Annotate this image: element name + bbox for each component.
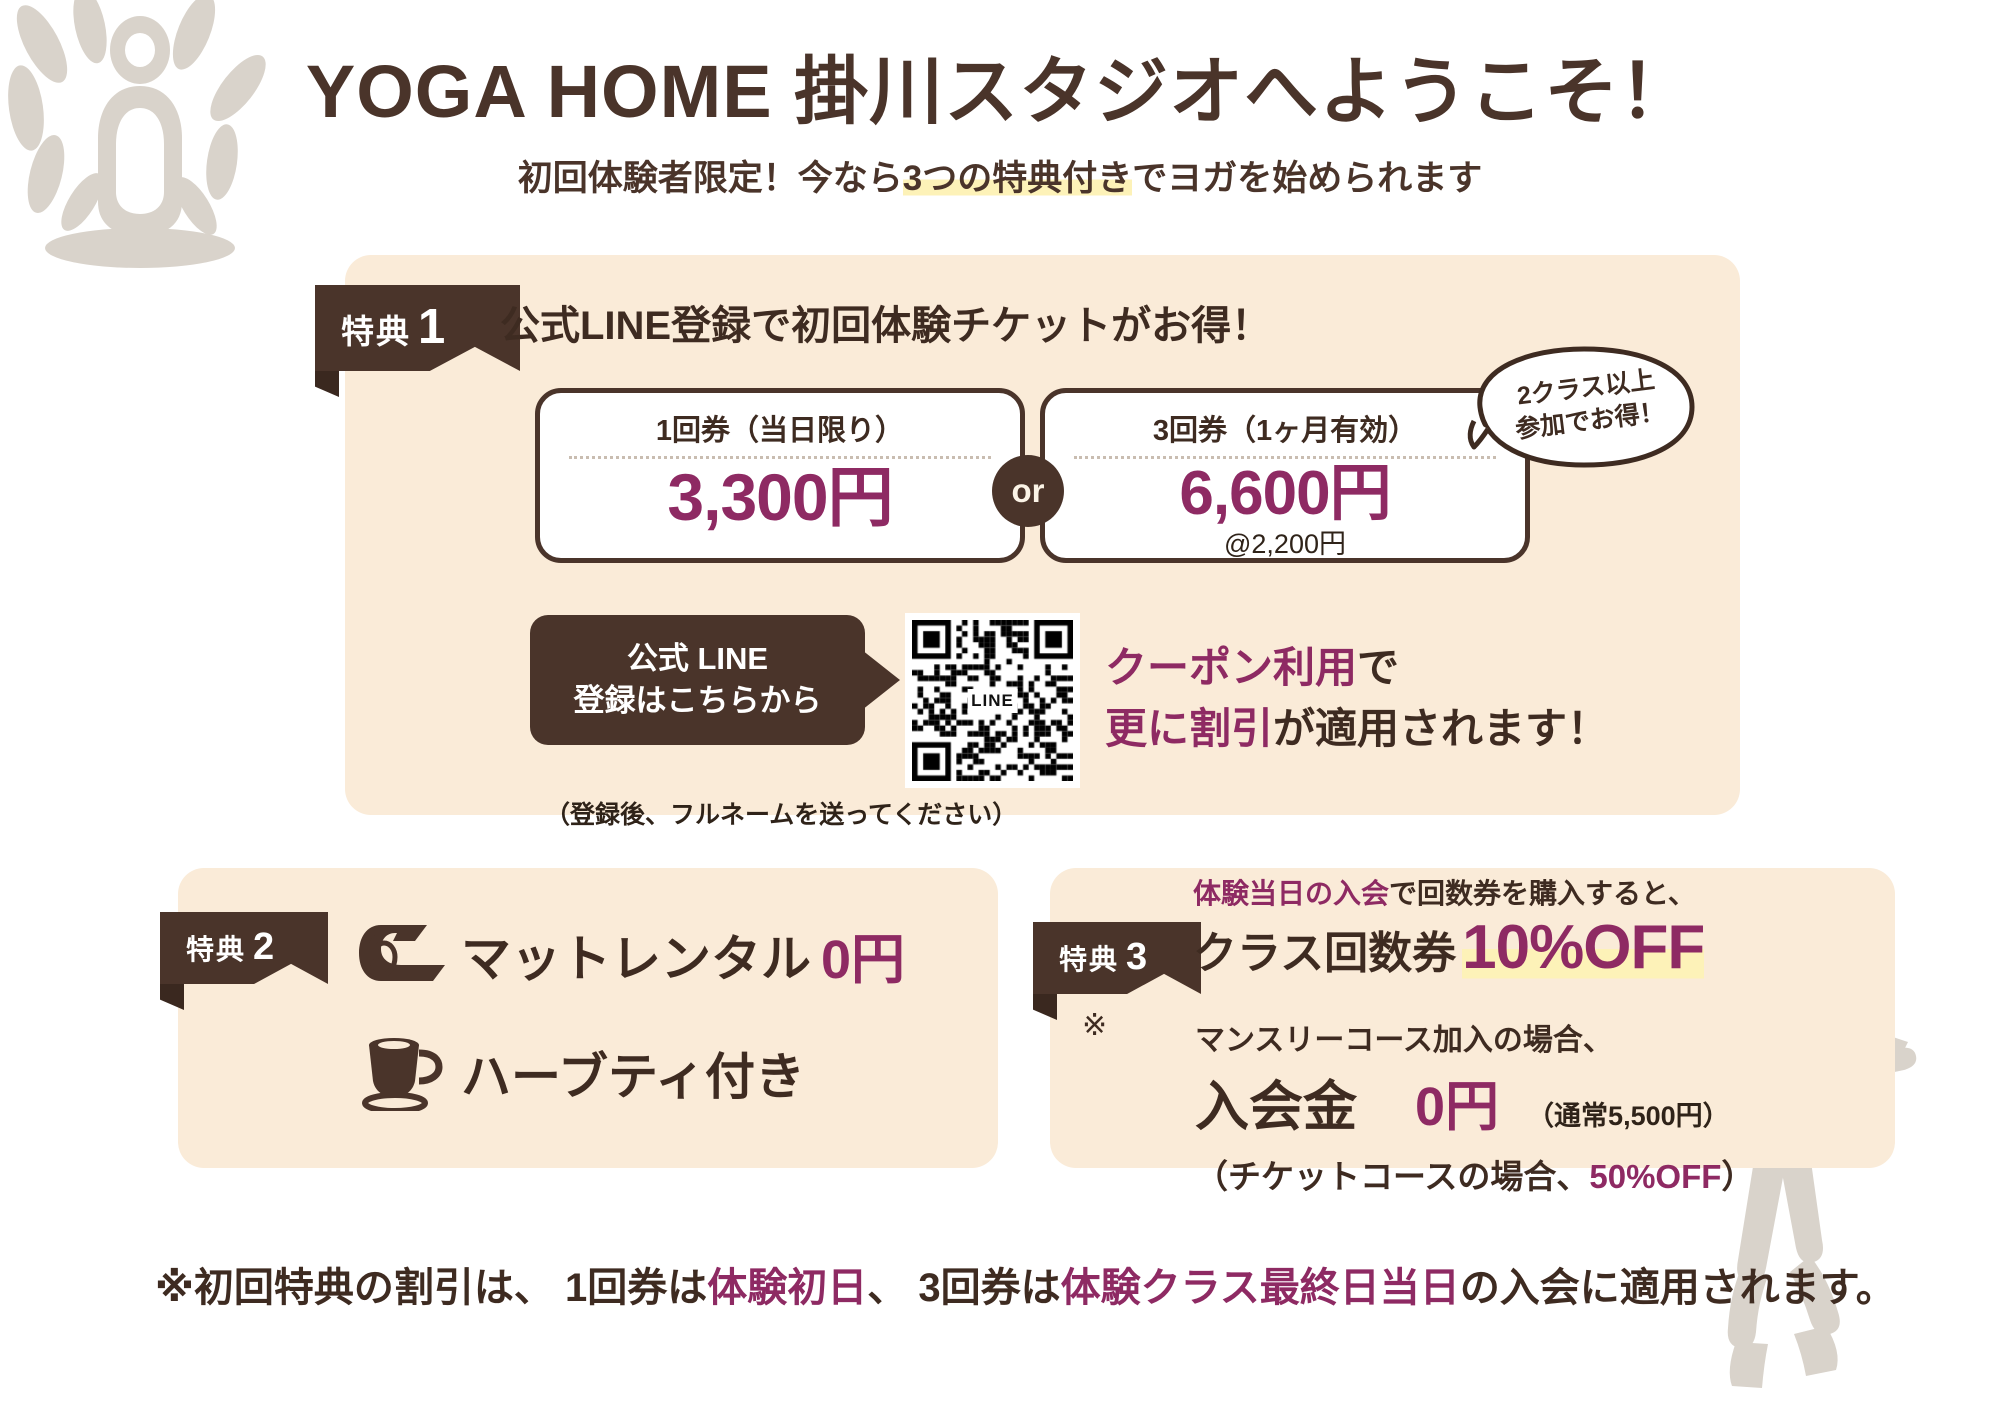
footnote-emph-2: 体験クラス最終日当日 bbox=[1061, 1266, 1460, 1310]
footnote-post: の入会に適用されます。 bbox=[1460, 1266, 1896, 1310]
benefit-3-asterisk: ※ bbox=[1082, 1008, 1107, 1043]
benefit-3-lead-emph: 体験当日の入会 bbox=[1193, 878, 1389, 909]
ribbon-number: 3 bbox=[1126, 938, 1147, 976]
benefit-3-offer-value: 10%OFF bbox=[1462, 912, 1704, 983]
line-registration-note: （登録後、フルネームを送ってください） bbox=[545, 795, 1017, 831]
header: YOGA HOME 掛川スタジオへようこそ！ 初回体験者限定！今なら3つの特典付… bbox=[0, 52, 2000, 201]
ribbon-word: 特典 bbox=[186, 928, 246, 968]
coupon-line-2-emph: 更に割引 bbox=[1105, 705, 1273, 752]
benefit-3-ticket-note-pre: （チケットコースの場合、 bbox=[1195, 1158, 1589, 1195]
benefit-3-monthly-note: マンスリーコース加入の場合、 bbox=[1195, 1015, 1613, 1059]
coupon-line-1-emph: クーポン利用 bbox=[1105, 644, 1357, 691]
benefit-3-offer-label: クラス回数券 bbox=[1193, 917, 1456, 981]
benefit-1-heading: 公式LINE登録で初回体験チケットがお得！ bbox=[500, 293, 1271, 351]
footnote: ※初回特典の割引は、 1回券は体験初日、 3回券は体験クラス最終日当日の入会に適… bbox=[155, 1255, 1896, 1313]
benefit-3-lead-rest: で回数券を購入すると、 bbox=[1389, 878, 1696, 909]
coupon-discount-text: クーポン利用で 更に割引が適用されます！ bbox=[1105, 638, 1609, 760]
benefit-3-ticket-note-post: ） bbox=[1721, 1158, 1754, 1195]
coupon-line-2-rest: が適用されます！ bbox=[1273, 705, 1609, 752]
footnote-pre: ※初回特典の割引は、 1回券は bbox=[155, 1266, 707, 1310]
arrow-right-icon bbox=[862, 650, 900, 710]
benefit-2-tea-label: ハーブティ付き bbox=[461, 1037, 805, 1109]
ribbon-2-tail bbox=[160, 984, 184, 1010]
ticket-card-triple: 3回券（1ヶ月有効） 6,600円 @2,200円 bbox=[1040, 388, 1530, 563]
ribbon-1-tail bbox=[315, 371, 339, 397]
ticket-card-single: 1回券（当日限り） 3,300円 bbox=[535, 388, 1025, 563]
ribbon-word: 特典 bbox=[341, 305, 411, 353]
benefit-3-lead-text: 体験当日の入会で回数券を購入すると、 bbox=[1193, 872, 1696, 912]
benefit-3-ticket-note: （チケットコースの場合、50%OFF） bbox=[1195, 1150, 1754, 1198]
benefit-3-fee-row: 入会金 0円 （通常5,500円） bbox=[1195, 1062, 1730, 1141]
benefit-2-mat-price: 0円 bbox=[821, 915, 905, 994]
benefit-3-fee-value: 0円 bbox=[1415, 1062, 1499, 1141]
coupon-line-2: 更に割引が適用されます！ bbox=[1105, 699, 1609, 760]
or-badge: or bbox=[992, 455, 1064, 527]
page-title: YOGA HOME 掛川スタジオへようこそ！ bbox=[0, 52, 2000, 132]
ticket-card-triple-unit-price: @2,200円 bbox=[1045, 522, 1525, 561]
ticket-card-single-price: 3,300円 bbox=[540, 461, 1020, 535]
coupon-line-1-rest: で bbox=[1357, 644, 1399, 691]
benefit-3-offer-row: クラス回数券 10%OFF bbox=[1193, 912, 1704, 983]
ribbon-number: 1 bbox=[418, 303, 445, 352]
ribbon-number: 2 bbox=[253, 928, 274, 966]
page-subtitle: 初回体験者限定！今なら3つの特典付きでヨガを始められます bbox=[0, 150, 2000, 201]
benefit-3-fee-note: （通常5,500円） bbox=[1527, 1094, 1730, 1133]
ribbon-word: 特典 bbox=[1059, 938, 1119, 978]
ribbon-3-tail bbox=[1033, 994, 1057, 1020]
line-qr-code[interactable]: LINE bbox=[905, 613, 1080, 788]
line-register-button[interactable]: 公式 LINE 登録はこちらから bbox=[530, 615, 865, 745]
subtitle-pre: 初回体験者限定！今なら bbox=[518, 159, 903, 198]
footnote-mid: 、 3回券は bbox=[867, 1266, 1060, 1310]
ticket-card-single-title: 1回券（当日限り） bbox=[540, 407, 1020, 449]
subtitle-post: でヨガを始められます bbox=[1132, 159, 1482, 198]
coupon-line-1: クーポン利用で bbox=[1105, 638, 1609, 699]
benefit-2-mat-row: マットレンタル 0円 bbox=[355, 915, 905, 994]
benefit-3-ticket-note-emph: 50%OFF bbox=[1589, 1158, 1721, 1195]
benefit-2-mat-label: マットレンタル bbox=[461, 919, 811, 991]
ticket-card-triple-title: 3回券（1ヶ月有効） bbox=[1045, 407, 1525, 449]
divider bbox=[569, 456, 991, 459]
subtitle-highlight: 3つの特典付き bbox=[903, 159, 1132, 198]
benefit-3-fee-label: 入会金 bbox=[1195, 1062, 1357, 1141]
line-cta-line-2: 登録はこちらから bbox=[574, 680, 822, 722]
qr-code-label: LINE bbox=[967, 689, 1018, 713]
benefit-2-tea-row: ハーブティ付き bbox=[355, 1035, 805, 1111]
ticket-card-triple-price: 6,600円 bbox=[1045, 461, 1525, 526]
footnote-emph-1: 体験初日 bbox=[707, 1266, 867, 1310]
yoga-mat-roll-icon bbox=[355, 917, 447, 993]
tea-cup-icon bbox=[355, 1035, 447, 1111]
line-cta-line-1: 公式 LINE bbox=[627, 638, 768, 680]
